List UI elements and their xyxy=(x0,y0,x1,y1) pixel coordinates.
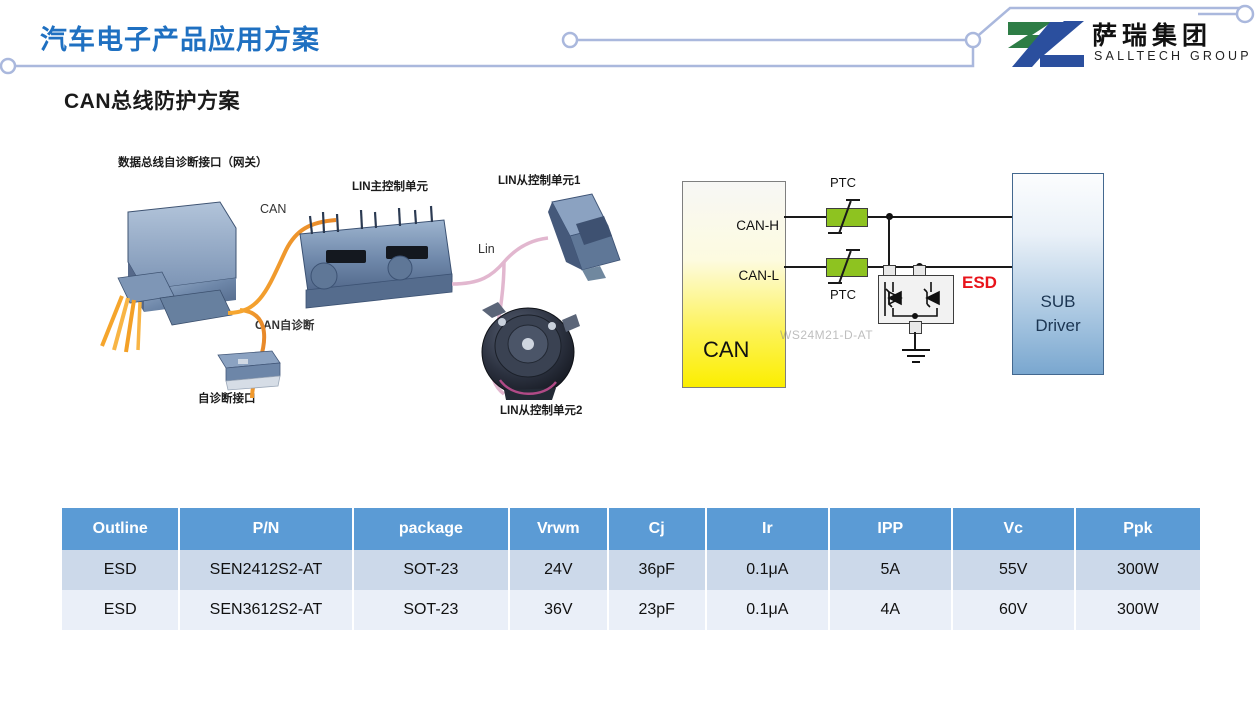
col-vc[interactable]: Vc xyxy=(952,508,1075,550)
col-ir[interactable]: Ir xyxy=(706,508,829,550)
cell-ppk: 300W xyxy=(1075,550,1200,590)
cell-outline: ESD xyxy=(62,550,179,590)
automotive-bus-diagram: 数据总线自诊断接口（网关） LIN主控制单元 LIN从控制单元1 LIN从控制单… xyxy=(100,150,660,430)
ptc-tick-top-a xyxy=(846,199,860,201)
col-outline[interactable]: Outline xyxy=(62,508,179,550)
sub-driver-line1: SUB xyxy=(1013,292,1103,312)
esd-protection-schematic: CAN-H CAN-L CAN PTC PTC xyxy=(670,165,1150,395)
can-block-title: CAN xyxy=(703,337,749,363)
ptc-tick-top-b xyxy=(828,232,842,234)
cell-ipp: 4A xyxy=(829,590,952,630)
col-package[interactable]: package xyxy=(353,508,510,550)
esd-component-body xyxy=(878,275,954,324)
ptc-tick-bottom-b xyxy=(828,282,842,284)
col-cj[interactable]: Cj xyxy=(608,508,706,550)
cell-ipp: 5A xyxy=(829,550,952,590)
lin-slave-1-image xyxy=(548,194,620,281)
cell-ppk: 300W xyxy=(1075,590,1200,630)
sub-driver-line2: Driver xyxy=(1013,316,1103,336)
cell-ir: 0.1μA xyxy=(706,590,829,630)
wire-can-h-left xyxy=(784,216,826,218)
cell-cj: 23pF xyxy=(608,590,706,630)
slide-root: 汽车电子产品应用方案 CAN总线防护方案 萨瑞集团 SALLTECH GROUP… xyxy=(0,0,1257,706)
cell-outline: ESD xyxy=(62,590,179,630)
cell-vc: 60V xyxy=(952,590,1075,630)
table-header-row: Outline P/N package Vrwm Cj Ir IPP Vc Pp… xyxy=(62,508,1200,550)
cell-package: SOT-23 xyxy=(353,590,510,630)
ptc-label-bottom: PTC xyxy=(830,287,856,302)
deco-circle-left xyxy=(1,59,15,73)
cell-pn: SEN3612S2-AT xyxy=(179,590,352,630)
lin-wire-1 xyxy=(452,238,548,284)
can-transceiver-block: CAN-H CAN-L CAN xyxy=(682,181,786,388)
section-title: CAN总线防护方案 xyxy=(64,85,240,115)
cell-pn: SEN2412S2-AT xyxy=(179,550,352,590)
logo-mark-icon xyxy=(1006,20,1086,70)
can-pin-h: CAN-H xyxy=(736,218,779,233)
ptc-tick-bottom-a xyxy=(846,249,860,251)
cell-vc: 55V xyxy=(952,550,1075,590)
can-pin-l: CAN-L xyxy=(738,268,779,283)
cell-vrwm: 36V xyxy=(509,590,607,630)
ptc-label-top: PTC xyxy=(830,175,856,190)
page-title: 汽车电子产品应用方案 xyxy=(40,18,320,57)
cell-ir: 0.1μA xyxy=(706,550,829,590)
part-number-watermark: WS24M21-D-AT xyxy=(780,328,873,342)
col-vrwm[interactable]: Vrwm xyxy=(509,508,607,550)
logo-name-cn: 萨瑞集团 xyxy=(1092,16,1212,52)
cell-cj: 36pF xyxy=(608,550,706,590)
deco-circle-node xyxy=(966,33,980,47)
sub-driver-block: SUB Driver xyxy=(1012,173,1104,375)
wire-can-l-left xyxy=(784,266,826,268)
col-ppk[interactable]: Ppk xyxy=(1075,508,1200,550)
lin-master-ecu-image xyxy=(300,206,452,308)
col-ipp[interactable]: IPP xyxy=(829,508,952,550)
deco-circle-mid xyxy=(563,33,577,47)
logo-name-en: SALLTECH GROUP xyxy=(1094,49,1252,63)
ground-symbol-icon xyxy=(898,348,934,366)
diagnostic-connector-image xyxy=(218,351,280,390)
table-row[interactable]: ESD SEN2412S2-AT SOT-23 24V 36pF 0.1μA 5… xyxy=(62,550,1200,590)
col-pn[interactable]: P/N xyxy=(179,508,352,550)
gateway-ecu-image xyxy=(102,202,236,352)
table-row[interactable]: ESD SEN3612S2-AT SOT-23 36V 23pF 0.1μA 4… xyxy=(62,590,1200,630)
diagram-artwork xyxy=(100,150,660,430)
brand-logo: 萨瑞集团 SALLTECH GROUP xyxy=(1006,18,1246,74)
esd-label: ESD xyxy=(962,273,997,293)
esd-diode-symbols xyxy=(879,276,953,323)
cell-package: SOT-23 xyxy=(353,550,510,590)
cell-vrwm: 24V xyxy=(509,550,607,590)
esd-parameter-table: Outline P/N package Vrwm Cj Ir IPP Vc Pp… xyxy=(62,508,1200,630)
